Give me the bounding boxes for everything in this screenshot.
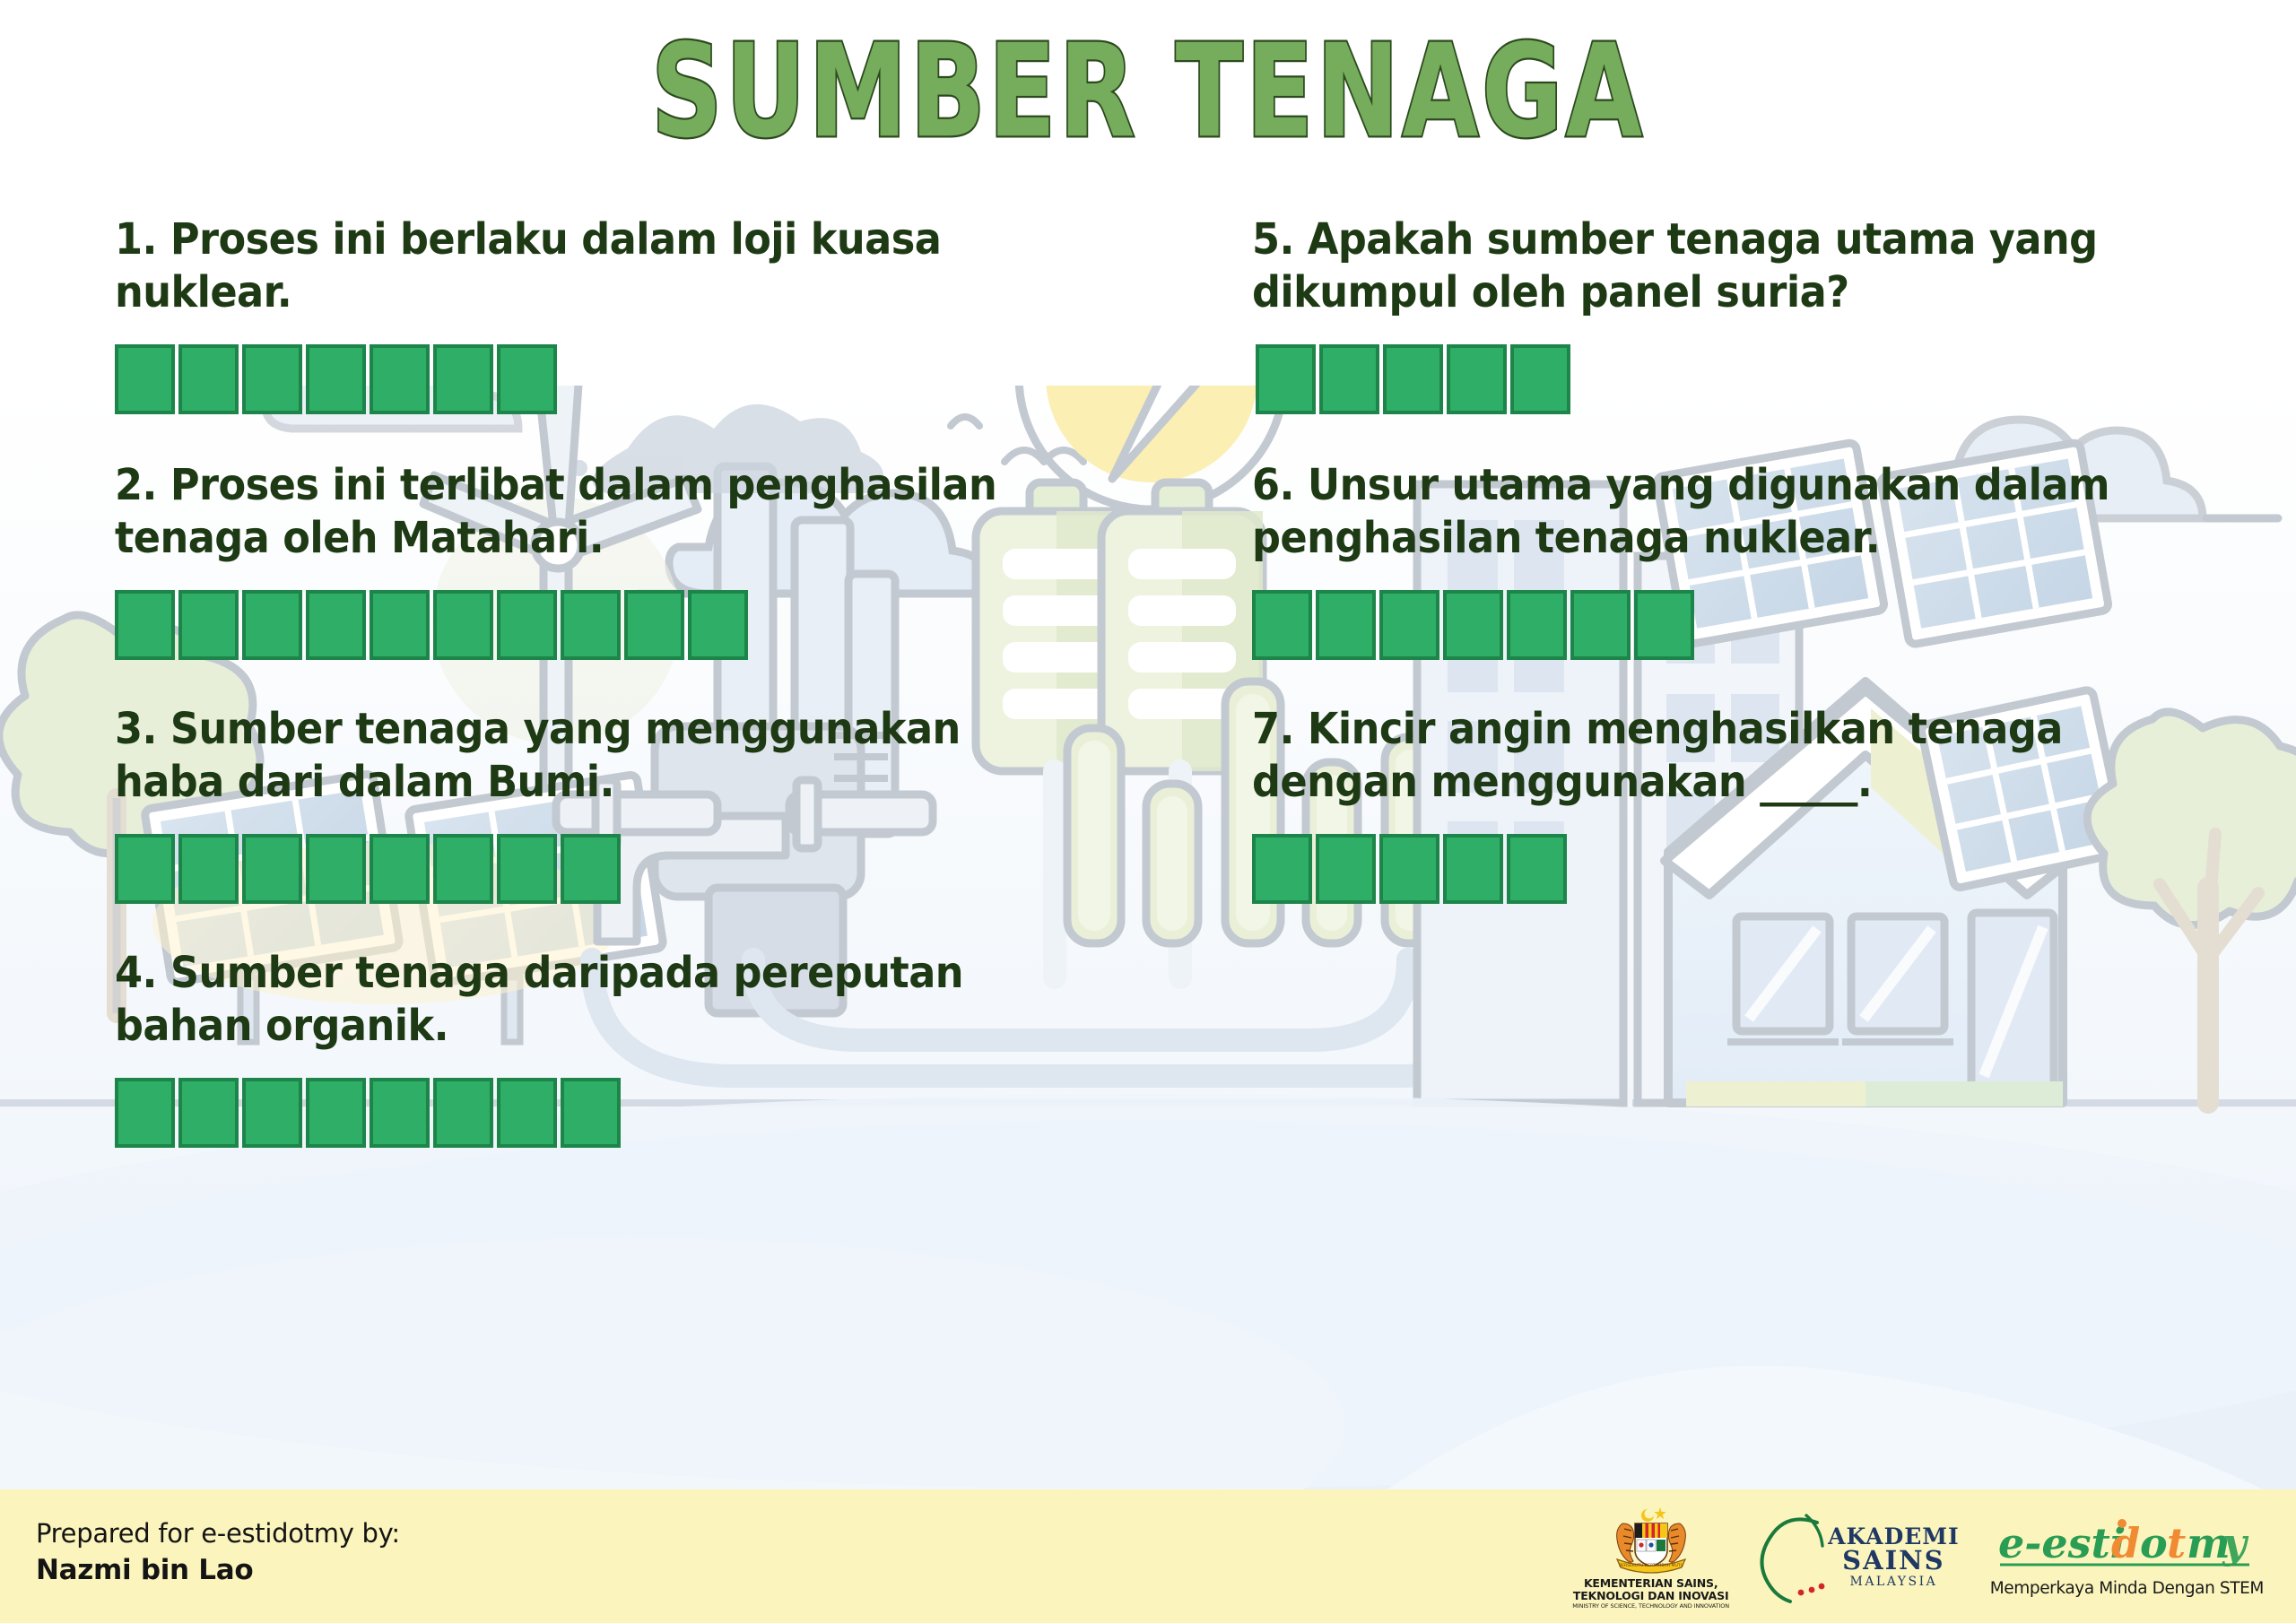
answer-box[interactable] xyxy=(1252,590,1312,660)
answer-box[interactable] xyxy=(306,1078,366,1148)
answer-box[interactable] xyxy=(178,590,239,660)
questions-column-left: 1. Proses ini berlaku dalam loji kuasa n… xyxy=(115,213,1119,1148)
svg-text:d: d xyxy=(2111,1519,2140,1567)
answer-box[interactable] xyxy=(242,834,302,904)
page-title: SUMBER TENAGA xyxy=(651,25,1645,161)
answer-box[interactable] xyxy=(561,590,621,660)
question-block-4: 4. Sumber tenaga daripada pereputan baha… xyxy=(115,947,1119,1148)
answer-box[interactable] xyxy=(306,344,366,414)
question-block-7: 7. Kincir angin menghasilkan tenaga deng… xyxy=(1252,703,2274,904)
svg-text:t: t xyxy=(2167,1519,2186,1567)
answer-box[interactable] xyxy=(178,344,239,414)
answer-box[interactable] xyxy=(1570,590,1631,660)
answer-box[interactable] xyxy=(497,834,557,904)
asm-swoosh-icon xyxy=(1760,1510,1826,1603)
answer-box[interactable] xyxy=(624,590,684,660)
footer-credit: Prepared for e-estidotmy by: Nazmi bin L… xyxy=(36,1518,400,1586)
credit-name: Nazmi bin Lao xyxy=(36,1554,400,1586)
svg-text:e-esti: e-esti xyxy=(1998,1519,2126,1567)
question-block-3: 3. Sumber tenaga yang menggunakan haba d… xyxy=(115,703,1119,904)
credit-label: Prepared for e-estidotmy by: xyxy=(36,1518,400,1549)
mosti-logo: BERSEKUTU BERTAMBAH MUTU KEMENTERIAN SAI… xyxy=(1572,1504,1729,1610)
answer-box[interactable] xyxy=(370,834,430,904)
answer-box[interactable] xyxy=(115,834,175,904)
question-6-answer-boxes xyxy=(1252,590,2274,660)
answer-box[interactable] xyxy=(561,834,621,904)
answer-box[interactable] xyxy=(242,1078,302,1148)
answer-box[interactable] xyxy=(370,344,430,414)
answer-box[interactable] xyxy=(1510,344,1570,414)
question-block-5: 5. Apakah sumber tenaga utama yang dikum… xyxy=(1252,213,2274,414)
answer-box[interactable] xyxy=(497,344,557,414)
svg-text:BERSEKUTU BERTAMBAH MUTU: BERSEKUTU BERTAMBAH MUTU xyxy=(1619,1563,1683,1568)
svg-text:y: y xyxy=(2222,1519,2249,1567)
answer-box[interactable] xyxy=(1316,834,1376,904)
answer-box[interactable] xyxy=(1507,590,1567,660)
page-title-wrap: SUMBER TENAGA xyxy=(0,25,2296,145)
question-7-answer-boxes xyxy=(1252,834,2274,904)
question-4-answer-boxes xyxy=(115,1078,1119,1148)
answer-box[interactable] xyxy=(306,590,366,660)
question-block-2: 2. Proses ini terlibat dalam penghasilan… xyxy=(115,459,1119,660)
answer-box[interactable] xyxy=(242,590,302,660)
answer-box[interactable] xyxy=(1252,834,1312,904)
answer-box[interactable] xyxy=(1256,344,1316,414)
answer-box[interactable] xyxy=(370,590,430,660)
asm-line-3: MALAYSIA xyxy=(1828,1575,1960,1588)
question-5-text: 5. Apakah sumber tenaga utama yang dikum… xyxy=(1252,213,2203,319)
question-7-text: 7. Kincir angin menghasilkan tenaga deng… xyxy=(1252,703,2203,809)
answer-box[interactable] xyxy=(433,344,493,414)
answer-box[interactable] xyxy=(1634,590,1694,660)
answer-box[interactable] xyxy=(1447,344,1507,414)
answer-box[interactable] xyxy=(497,590,557,660)
asm-line-2: SAINS xyxy=(1828,1548,1960,1574)
footer-bar: Prepared for e-estidotmy by: Nazmi bin L… xyxy=(0,1489,2296,1623)
asm-wordmark: AKADEMI SAINS MALAYSIA xyxy=(1828,1525,1960,1588)
svg-text:o: o xyxy=(2140,1519,2168,1567)
mosti-line-2: TEKNOLOGI DAN INOVASI xyxy=(1572,1590,1729,1602)
answer-box[interactable] xyxy=(1383,344,1443,414)
answer-box[interactable] xyxy=(1379,590,1439,660)
question-3-answer-boxes xyxy=(115,834,1119,904)
question-6-text: 6. Unsur utama yang digunakan dalam peng… xyxy=(1252,459,2203,565)
question-1-text: 1. Proses ini berlaku dalam loji kuasa n… xyxy=(115,213,1049,319)
answer-box[interactable] xyxy=(1507,834,1567,904)
answer-box[interactable] xyxy=(306,834,366,904)
answer-box[interactable] xyxy=(115,590,175,660)
answer-box[interactable] xyxy=(1443,834,1503,904)
malaysia-coat-of-arms-icon: BERSEKUTU BERTAMBAH MUTU xyxy=(1608,1504,1694,1575)
answer-box[interactable] xyxy=(433,1078,493,1148)
answer-box[interactable] xyxy=(178,834,239,904)
mosti-caption: KEMENTERIAN SAINS, TEKNOLOGI DAN INOVASI… xyxy=(1572,1577,1729,1610)
footer-logos: BERSEKUTU BERTAMBAH MUTU KEMENTERIAN SAI… xyxy=(1572,1502,2264,1611)
answer-box[interactable] xyxy=(115,344,175,414)
estidotmy-logo: e-esti d o t m y Memperkaya Minda Dengan… xyxy=(1990,1516,2264,1598)
question-2-answer-boxes xyxy=(115,590,1119,660)
answer-box[interactable] xyxy=(1319,344,1379,414)
question-2-text: 2. Proses ini terlibat dalam penghasilan… xyxy=(115,459,1049,565)
worksheet-page: SUMBER TENAGA 1. Proses ini berlaku dala… xyxy=(0,0,2296,1623)
akademi-sains-logo: AKADEMI SAINS MALAYSIA xyxy=(1760,1510,1960,1603)
questions-column-right: 5. Apakah sumber tenaga utama yang dikum… xyxy=(1252,213,2274,904)
question-5-answer-boxes xyxy=(1256,344,2274,414)
question-block-6: 6. Unsur utama yang digunakan dalam peng… xyxy=(1252,459,2274,660)
mosti-line-1: KEMENTERIAN SAINS, xyxy=(1572,1577,1729,1590)
estidotmy-wordmark-icon: e-esti d o t m y xyxy=(1996,1516,2257,1577)
answer-box[interactable] xyxy=(688,590,748,660)
question-1-answer-boxes xyxy=(115,344,1119,414)
answer-box[interactable] xyxy=(561,1078,621,1148)
answer-box[interactable] xyxy=(1379,834,1439,904)
answer-box[interactable] xyxy=(1316,590,1376,660)
answer-box[interactable] xyxy=(370,1078,430,1148)
question-3-text: 3. Sumber tenaga yang menggunakan haba d… xyxy=(115,703,1049,809)
answer-box[interactable] xyxy=(242,344,302,414)
answer-box[interactable] xyxy=(178,1078,239,1148)
mosti-line-3: MINISTRY OF SCIENCE, TECHNOLOGY AND INNO… xyxy=(1572,1603,1729,1610)
answer-box[interactable] xyxy=(115,1078,175,1148)
estidotmy-tagline: Memperkaya Minda Dengan STEM xyxy=(1990,1579,2264,1598)
question-block-1: 1. Proses ini berlaku dalam loji kuasa n… xyxy=(115,213,1119,414)
question-4-text: 4. Sumber tenaga daripada pereputan baha… xyxy=(115,947,1049,1053)
answer-box[interactable] xyxy=(1443,590,1503,660)
answer-box[interactable] xyxy=(433,834,493,904)
answer-box[interactable] xyxy=(433,590,493,660)
answer-box[interactable] xyxy=(497,1078,557,1148)
